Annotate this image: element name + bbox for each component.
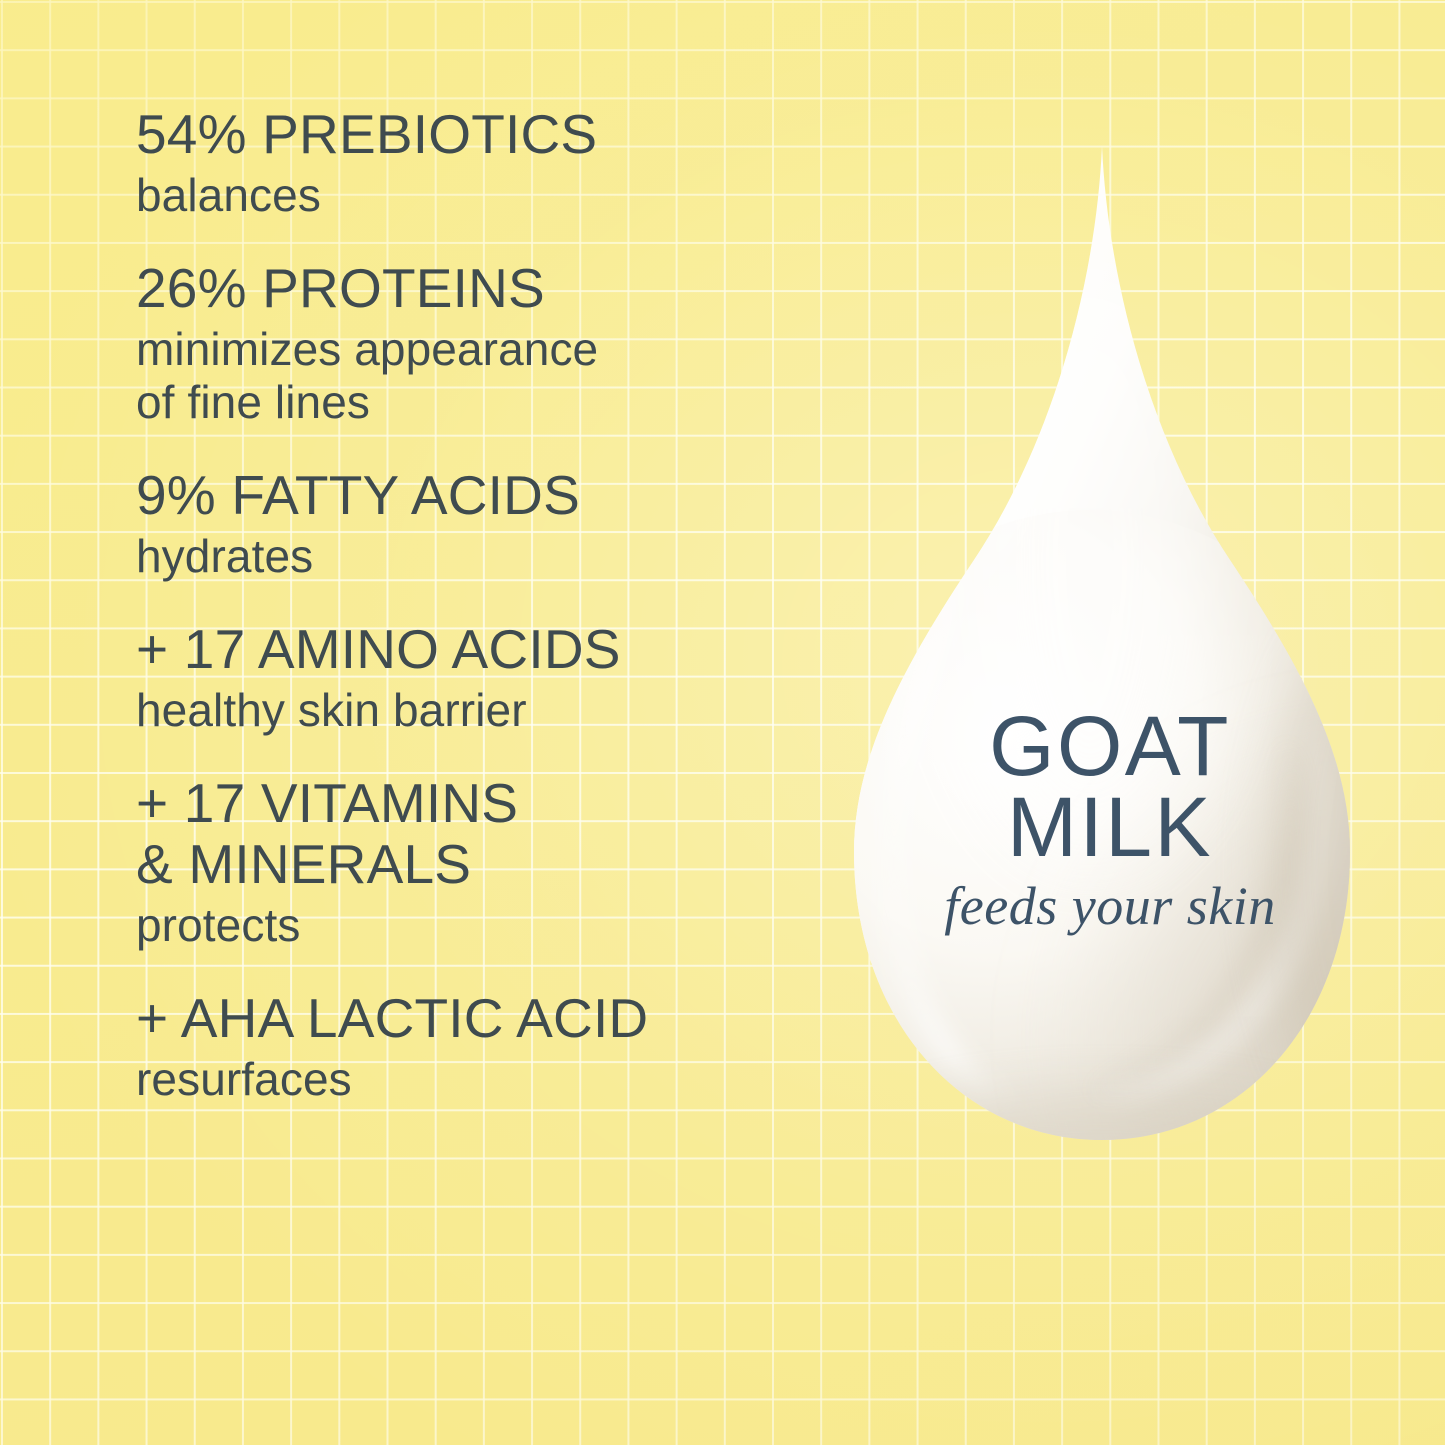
ingredient-headline: + 17 AMINO ACIDS	[136, 619, 836, 680]
ingredient-benefit: minimizes appearance of fine lines	[136, 323, 836, 429]
ingredient-item-fatty-acids: 9% FATTY ACIDS hydrates	[136, 465, 836, 583]
milk-droplet-illustration	[790, 140, 1430, 1180]
ingredient-headline: + 17 VITAMINS & MINERALS	[136, 773, 836, 895]
ingredient-headline: 54% PREBIOTICS	[136, 104, 836, 165]
ingredient-item-aha-lactic-acid: + AHA LACTIC ACID resurfaces	[136, 988, 836, 1106]
ingredient-benefit: healthy skin barrier	[136, 684, 836, 737]
ingredient-benefit: balances	[136, 169, 836, 222]
ingredient-item-vitamins-minerals: + 17 VITAMINS & MINERALS protects	[136, 773, 836, 952]
goat-milk-ingredient-poster: 54% PREBIOTICS balances 26% PROTEINS min…	[0, 0, 1445, 1445]
ingredient-benefit: hydrates	[136, 530, 836, 583]
ingredient-headline: 26% PROTEINS	[136, 258, 836, 319]
droplet-sheen	[960, 270, 1220, 850]
ingredient-item-prebiotics: 54% PREBIOTICS balances	[136, 104, 836, 222]
ingredient-headline: 9% FATTY ACIDS	[136, 465, 836, 526]
droplet-bottom-shadow	[852, 1092, 1352, 1212]
ingredient-list: 54% PREBIOTICS balances 26% PROTEINS min…	[136, 104, 836, 1106]
milk-droplet-icon	[790, 140, 1430, 1180]
ingredient-item-proteins: 26% PROTEINS minimizes appearance of fin…	[136, 258, 836, 429]
ingredient-item-amino-acids: + 17 AMINO ACIDS healthy skin barrier	[136, 619, 836, 737]
ingredient-benefit: protects	[136, 899, 836, 952]
ingredient-headline: + AHA LACTIC ACID	[136, 988, 836, 1049]
ingredient-benefit: resurfaces	[136, 1053, 836, 1106]
